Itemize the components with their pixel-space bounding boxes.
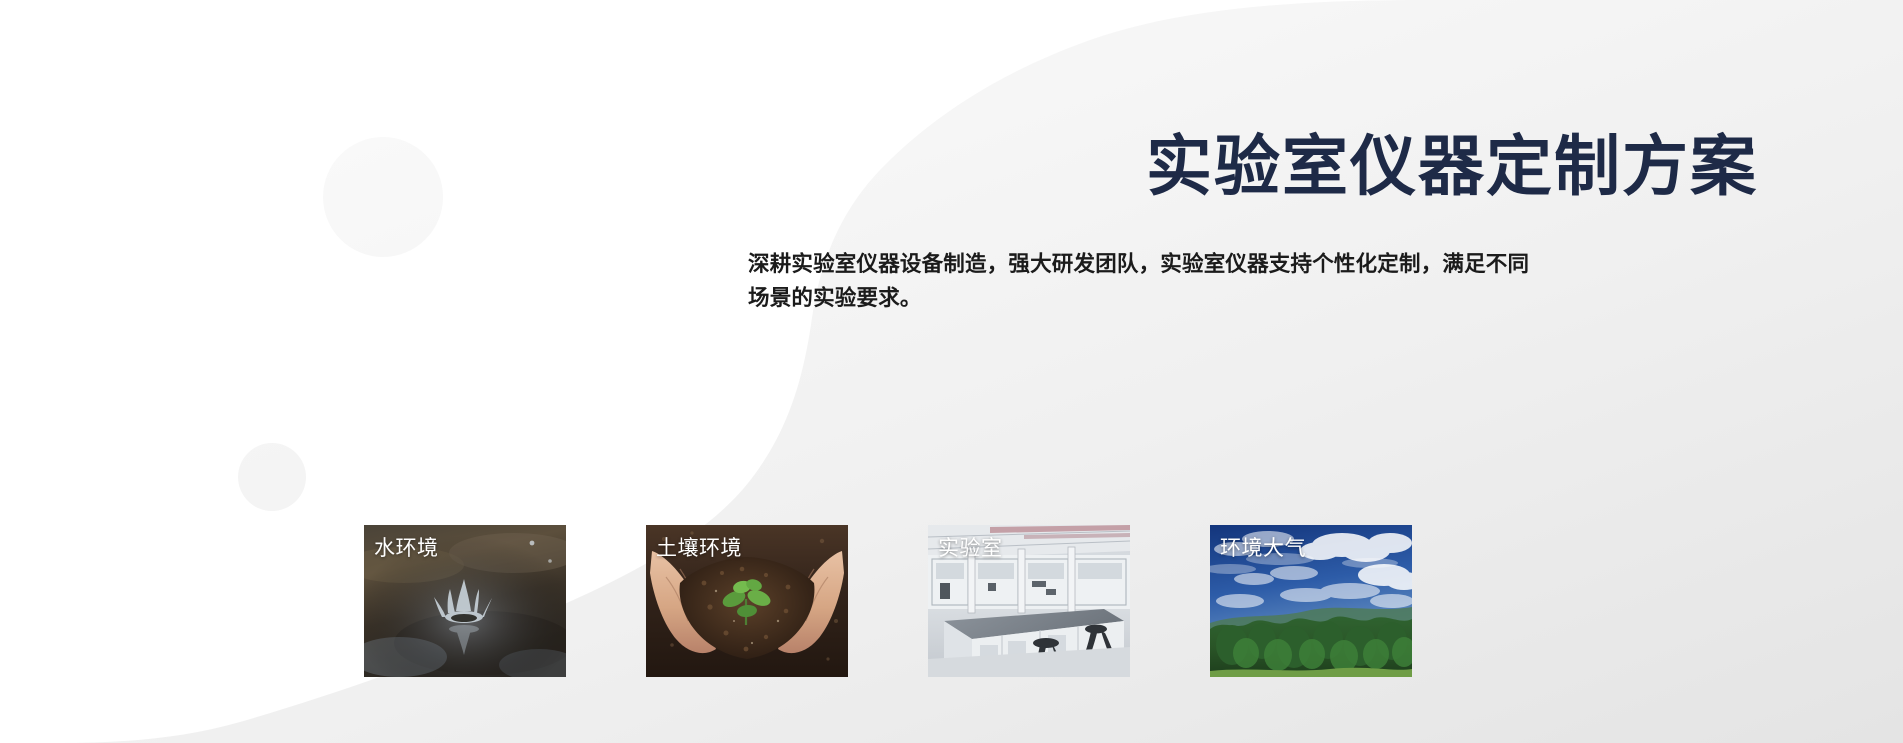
category-card-laboratory[interactable]: 实验室 [928,525,1130,677]
category-card-atmosphere[interactable]: 环境大气 [1210,525,1412,677]
page-subtitle: 深耕实验室仪器设备制造，强大研发团队，实验室仪器支持个性化定制，满足不同场景的实… [748,247,1538,317]
page-title: 实验室仪器定制方案 [748,128,1758,205]
hero-banner: 实验室仪器定制方案 深耕实验室仪器设备制造，强大研发团队，实验室仪器支持个性化定… [0,0,1903,743]
category-card-water[interactable]: 水环境 [364,525,566,677]
headline-block: 实验室仪器定制方案 深耕实验室仪器设备制造，强大研发团队，实验室仪器支持个性化定… [748,128,1758,316]
card-label: 实验室 [938,536,1003,561]
category-card-strip: 水环境 [364,525,1412,677]
card-label: 水环境 [374,536,439,561]
card-label: 环境大气 [1220,536,1306,561]
category-card-soil[interactable]: 土壤环境 [646,525,848,677]
card-label: 土壤环境 [656,536,742,561]
